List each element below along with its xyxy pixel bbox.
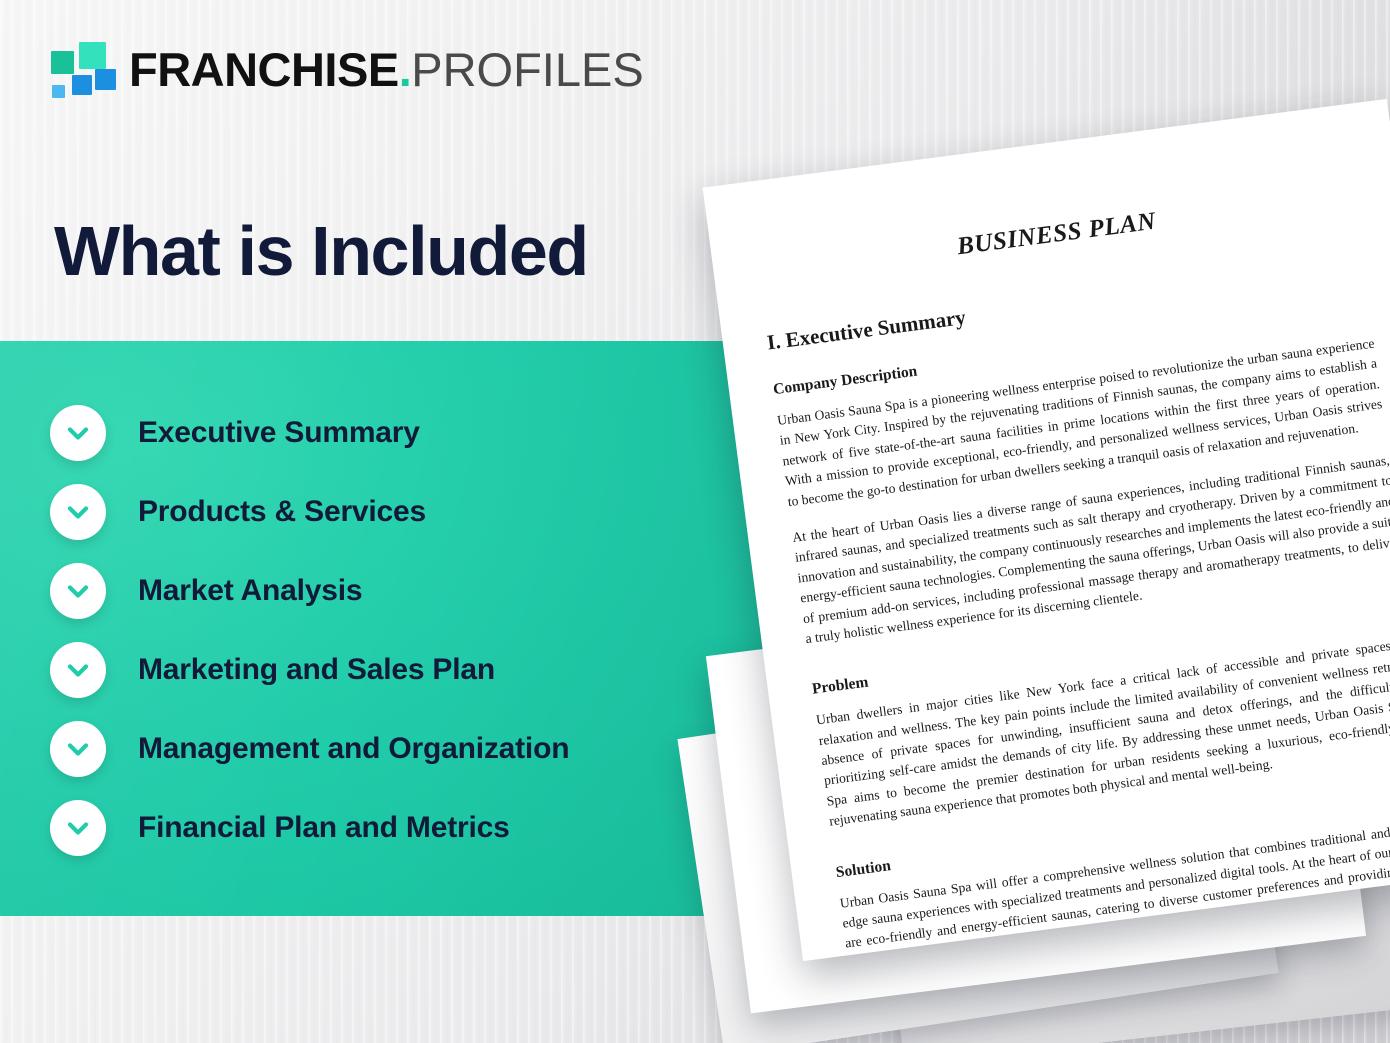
brand-logo: FRANCHISE.PROFILES xyxy=(45,40,644,98)
logo-square-1 xyxy=(51,51,74,74)
chevron-down-icon[interactable] xyxy=(50,800,106,856)
list-item[interactable]: Market Analysis xyxy=(50,551,770,630)
brand-wordmark: FRANCHISE.PROFILES xyxy=(129,46,644,93)
brand-name-bold: FRANCHISE xyxy=(129,46,399,93)
paper-sheet-front: BUSINESS PLAN I. Executive Summary Compa… xyxy=(703,99,1390,961)
list-item-label: Market Analysis xyxy=(138,574,362,608)
list-item-label: Products & Services xyxy=(138,495,426,529)
slide-canvas: FRANCHISE.PROFILES What is Included Exec… xyxy=(0,0,1390,1043)
list-item[interactable]: Management and Organization xyxy=(50,709,770,788)
list-item-label: Financial Plan and Metrics xyxy=(138,811,510,845)
document-body: BUSINESS PLAN I. Executive Summary Compa… xyxy=(703,99,1390,961)
brand-name-dot: . xyxy=(399,46,412,93)
list-item-label: Marketing and Sales Plan xyxy=(138,653,495,687)
included-sections-list: Executive Summary Products & Services Ma… xyxy=(50,393,770,867)
brand-name-thin: PROFILES xyxy=(411,46,643,93)
logo-square-4 xyxy=(95,69,116,90)
chevron-down-icon[interactable] xyxy=(50,563,106,619)
logo-square-5 xyxy=(52,85,65,98)
list-item[interactable]: Financial Plan and Metrics xyxy=(50,788,770,867)
logo-square-3 xyxy=(72,75,92,95)
chevron-down-icon[interactable] xyxy=(50,721,106,777)
chevron-down-icon[interactable] xyxy=(50,405,106,461)
list-item-label: Executive Summary xyxy=(138,416,420,450)
page-title: What is Included xyxy=(54,216,588,286)
logo-mark-icon xyxy=(45,40,107,98)
chevron-down-icon[interactable] xyxy=(50,642,106,698)
list-item[interactable]: Executive Summary xyxy=(50,393,770,472)
chevron-down-icon[interactable] xyxy=(50,484,106,540)
logo-square-2 xyxy=(79,42,106,69)
list-item[interactable]: Products & Services xyxy=(50,472,770,551)
business-plan-paper-stack: rban wellness demands of city life. BUSI… xyxy=(690,140,1390,1030)
list-item-label: Management and Organization xyxy=(138,732,569,766)
list-item[interactable]: Marketing and Sales Plan xyxy=(50,630,770,709)
